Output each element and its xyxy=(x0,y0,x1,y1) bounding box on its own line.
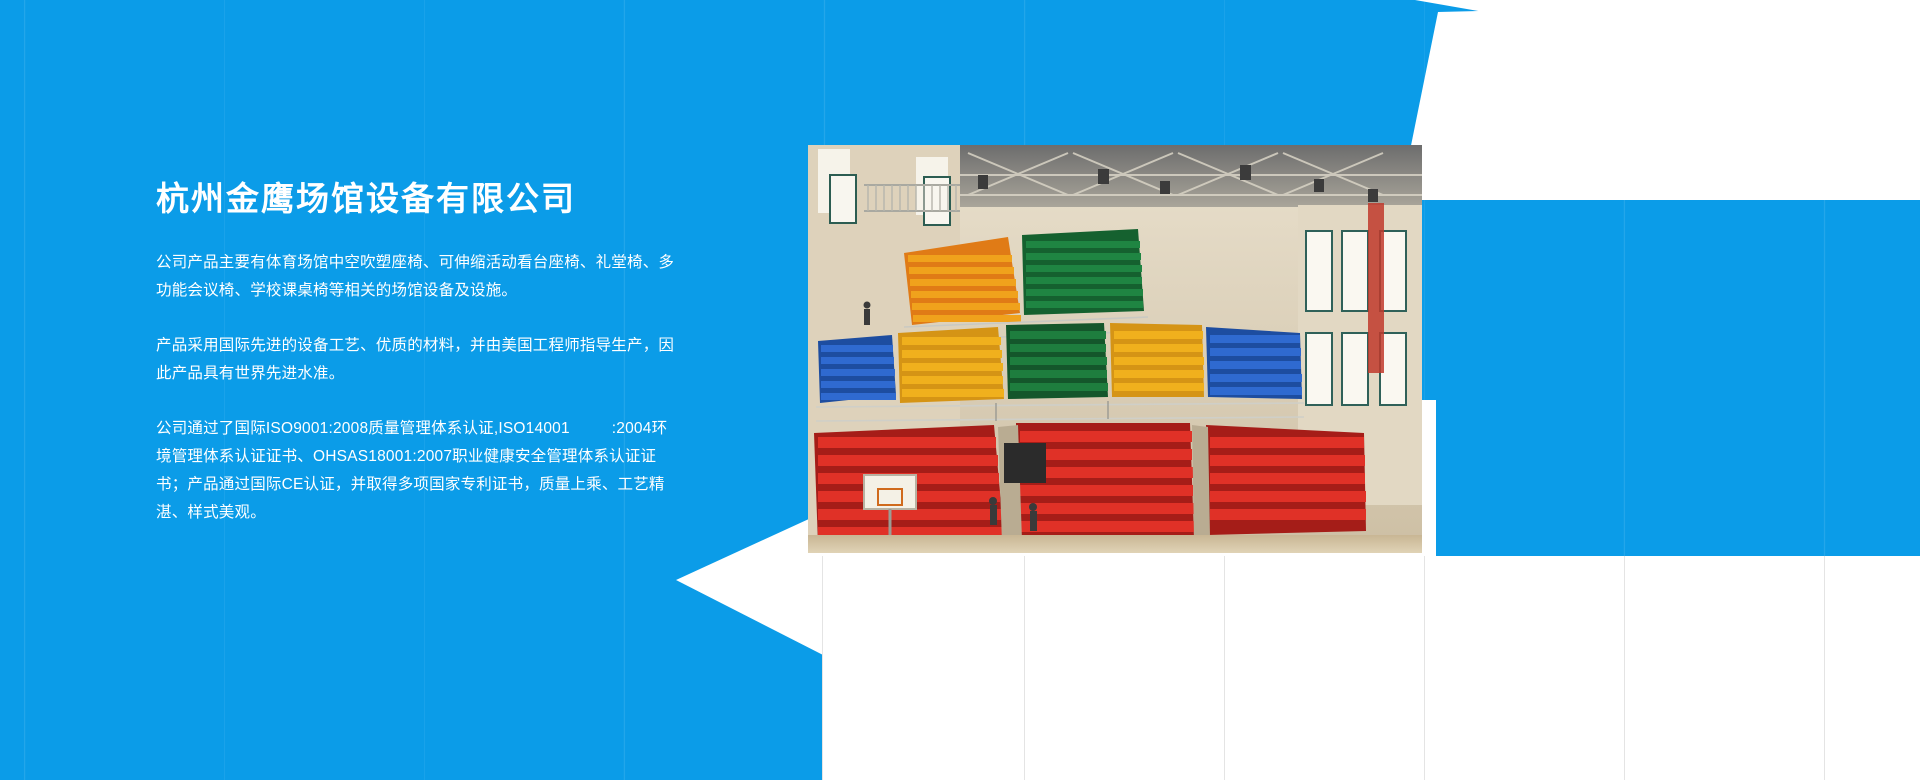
intro-paragraph-certifications: 公司通过了国际ISO9001:2008质量管理体系认证,ISO14001:200… xyxy=(156,415,676,527)
strip-divider xyxy=(1424,556,1425,780)
strip-divider xyxy=(822,556,823,780)
intro-paragraph-quality: 产品采用国际先进的设备工艺、优质的材料，并由美国工程师指导生产，因此产品具有世界… xyxy=(156,332,676,388)
company-title: 杭州金鹰场馆设备有限公司 xyxy=(156,178,676,219)
top-right-wedge-shape xyxy=(1400,0,1920,200)
stadium-seating-photo xyxy=(808,145,1422,553)
stadium-seating-illustration xyxy=(808,145,1422,553)
strip-divider xyxy=(1624,556,1625,780)
company-intro-block: 杭州金鹰场馆设备有限公司 公司产品主要有体育场馆中空吹塑座椅、可伸缩活动看台座椅… xyxy=(156,178,676,527)
strip-divider xyxy=(1224,556,1225,780)
strip-divider xyxy=(1024,556,1025,780)
strip-divider xyxy=(1824,556,1825,780)
hero-banner: 杭州金鹰场馆设备有限公司 公司产品主要有体育场馆中空吹塑座椅、可伸缩活动看台座椅… xyxy=(0,0,1920,780)
bottom-white-strip xyxy=(822,556,1920,780)
intro-paragraph-products: 公司产品主要有体育场馆中空吹塑座椅、可伸缩活动看台座椅、礼堂椅、多功能会议椅、学… xyxy=(156,249,676,305)
certification-text-part-one: 公司通过了国际ISO9001:2008质量管理体系认证,ISO14001 xyxy=(156,420,570,437)
